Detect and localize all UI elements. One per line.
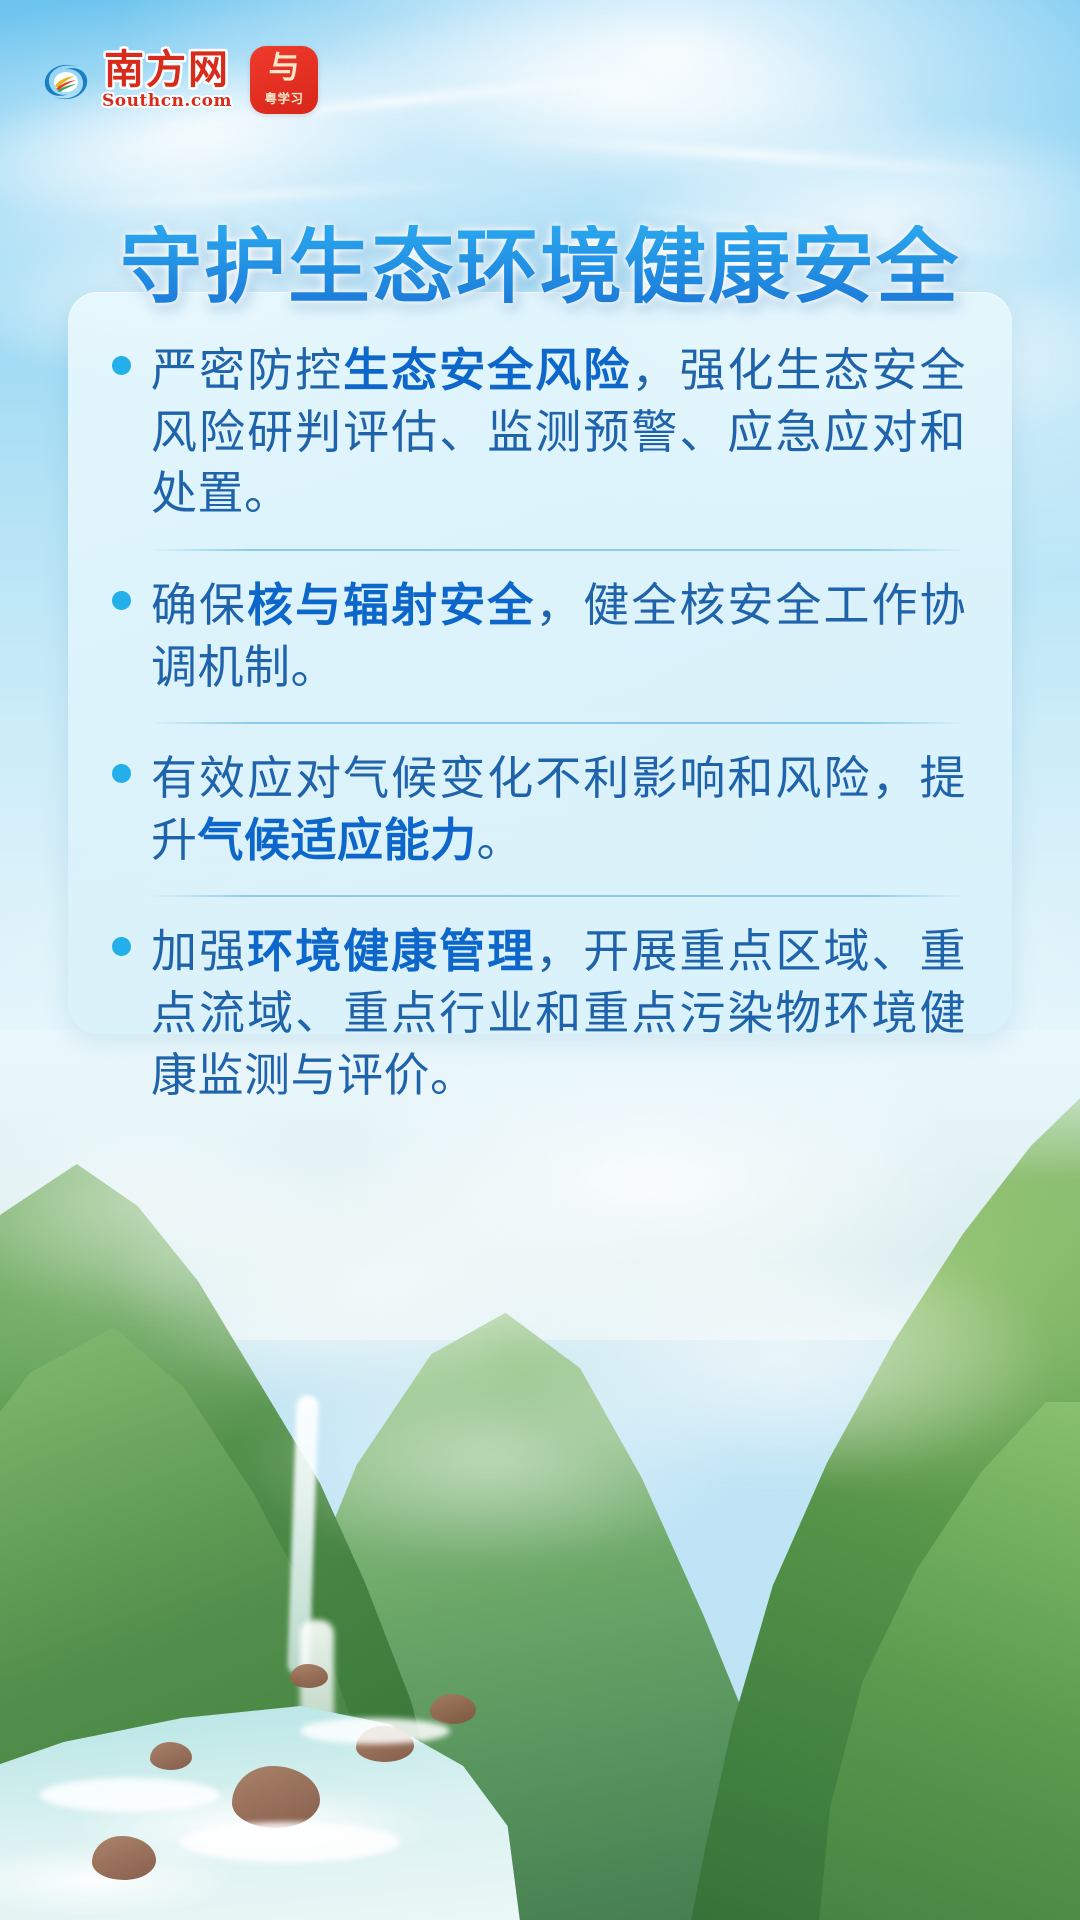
southcn-wordmark: 南方网 Southcn.com xyxy=(102,50,232,110)
bullet-dot-icon xyxy=(112,356,131,375)
southcn-swirl-icon xyxy=(38,54,94,110)
mist-cloud xyxy=(250,1360,730,1560)
text-segment: 。 xyxy=(477,813,524,867)
southcn-cn-text: 南方网 xyxy=(104,50,230,90)
landscape-photo xyxy=(0,1030,1080,1920)
river-rock xyxy=(150,1742,192,1770)
river-foam xyxy=(300,1718,450,1744)
bullet-dot-icon xyxy=(112,937,131,956)
text-segment: 确保 xyxy=(151,578,247,632)
list-item: 严密防控生态安全风险，强化生态安全风险研判评估、监测预警、应急应对和处置。 xyxy=(112,340,966,525)
river-foam xyxy=(40,1778,220,1812)
river-rock xyxy=(290,1664,328,1688)
yuexuexi-logo[interactable]: 与 粤学习 xyxy=(250,46,318,114)
poster-root: 南方网 Southcn.com 与 粤学习 守护生态环境健康安全 严密防控生态安… xyxy=(0,0,1080,1920)
bullet-dot-icon xyxy=(112,591,131,610)
river-foam xyxy=(180,1822,400,1862)
list-divider xyxy=(154,722,962,724)
content-card: 严密防控生态安全风险，强化生态安全风险研判评估、监测预警、应急应对和处置。 确保… xyxy=(68,292,1012,1034)
list-item: 确保核与辐射安全，健全核安全工作协调机制。 xyxy=(112,575,966,698)
list-item: 加强环境健康管理，开展重点区域、重点流域、重点行业和重点污染物环境健康监测与评价… xyxy=(112,921,966,1106)
cloud-streak xyxy=(480,130,1039,179)
list-item-text: 确保核与辐射安全，健全核安全工作协调机制。 xyxy=(151,575,966,698)
text-segment: 加强 xyxy=(151,924,247,978)
list-divider xyxy=(154,549,962,551)
list-item-text: 严密防控生态安全风险，强化生态安全风险研判评估、监测预警、应急应对和处置。 xyxy=(151,340,966,525)
text-segment-bold: 核与辐射安全 xyxy=(247,578,535,632)
southcn-en-text: Southcn.com xyxy=(102,93,232,110)
page-title: 守护生态环境健康安全 xyxy=(0,225,1080,311)
river-rock xyxy=(430,1694,476,1724)
river-rock xyxy=(92,1836,156,1880)
list-divider xyxy=(154,895,962,897)
yuexuexi-label: 粤学习 xyxy=(264,88,303,107)
list-item: 有效应对气候变化不利影响和风险，提升气候适应能力。 xyxy=(112,748,966,871)
text-segment-bold: 环境健康管理 xyxy=(247,924,535,978)
text-segment-bold: 气候适应能力 xyxy=(198,813,477,867)
text-segment: 严密防控 xyxy=(151,343,343,397)
list-item-text: 有效应对气候变化不利影响和风险，提升气候适应能力。 xyxy=(151,748,966,871)
text-segment-bold: 生态安全风险 xyxy=(343,343,631,397)
cloud-streak xyxy=(60,179,480,211)
southcn-logo[interactable]: 南方网 Southcn.com xyxy=(38,50,232,110)
yuexuexi-glyph: 与 xyxy=(269,53,300,84)
bullet-dot-icon xyxy=(112,764,131,783)
list-item-text: 加强环境健康管理，开展重点区域、重点流域、重点行业和重点污染物环境健康监测与评价… xyxy=(151,921,966,1106)
header-logo-bar: 南方网 Southcn.com 与 粤学习 xyxy=(38,46,318,114)
